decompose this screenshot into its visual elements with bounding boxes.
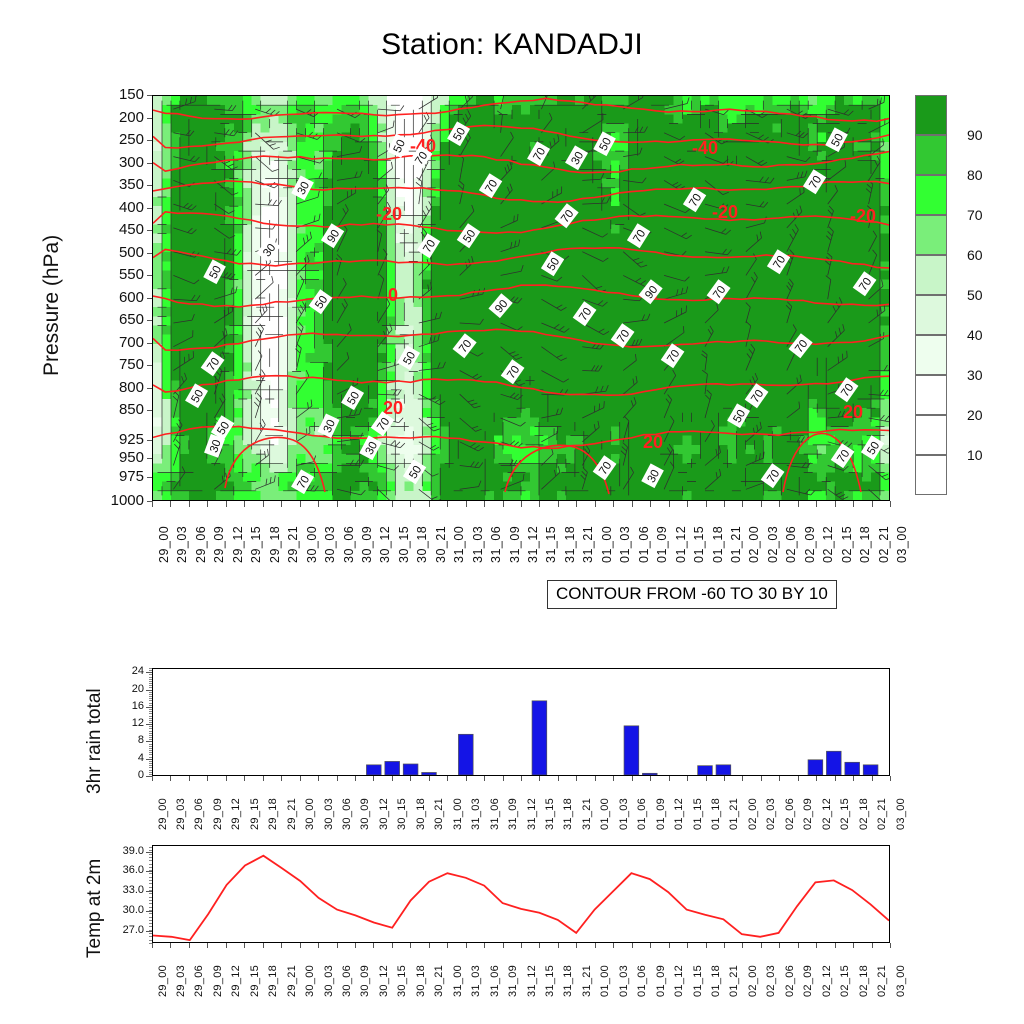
main-x-tickmark — [226, 501, 227, 507]
colorbar-swatch — [915, 135, 947, 175]
temp-y-minor-tickmark — [149, 907, 152, 908]
main-x-tickmark — [761, 501, 762, 507]
temp-y-minor-tickmark — [149, 880, 152, 881]
rain-y-minor-tickmark — [149, 722, 152, 723]
rain-x-tickmark — [189, 776, 190, 781]
temp-y-minor-tickmark — [149, 877, 152, 878]
rain-y-minor-tickmark — [149, 707, 152, 708]
temp-y-tickmark — [146, 891, 152, 892]
main-y-tickmark — [147, 410, 152, 411]
rain-x-tick: 29_12 — [230, 798, 242, 830]
main-x-tick: 29_18 — [268, 526, 282, 563]
temp-x-tickmark — [798, 943, 799, 948]
rain-x-tickmark — [170, 776, 171, 781]
rain-x-tickmark — [890, 776, 891, 781]
main-x-tick: 31_12 — [526, 526, 540, 563]
main-y-axis-title-text: Pressure (hPa) — [40, 235, 64, 376]
temp-x-tick: 31_06 — [489, 965, 501, 997]
main-x-tickmark — [466, 501, 467, 507]
temp-y-minor-tickmark — [149, 903, 152, 904]
temp-x-tick: 01_00 — [599, 965, 611, 997]
rain-y-minor-tickmark — [149, 694, 152, 695]
temp-y-minor-tickmark — [149, 857, 152, 858]
main-y-tickmark — [147, 140, 152, 141]
temp-x-tick: 29_00 — [157, 965, 169, 997]
rain-y-minor-tickmark — [149, 713, 152, 714]
rain-y-minor-tickmark — [149, 705, 152, 706]
rain-y-minor-tickmark — [149, 716, 152, 717]
temp-x-tickmark — [152, 943, 153, 948]
main-x-tickmark — [779, 501, 780, 507]
rain-y-minor-tickmark — [149, 711, 152, 712]
main-y-tickmark — [147, 275, 152, 276]
temp-x-tickmark — [872, 943, 873, 948]
temperature-line-chart — [152, 845, 890, 943]
colorbar-label: 60 — [967, 247, 983, 263]
rain-y-minor-tickmark — [149, 683, 152, 684]
rain-x-tick: 01_21 — [728, 798, 740, 830]
main-y-tickmark — [147, 458, 152, 459]
main-x-tick: 31_00 — [452, 526, 466, 563]
main-x-tick: 02_18 — [858, 526, 872, 563]
temp-y-minor-tickmark — [149, 900, 152, 901]
rain-x-tickmark — [337, 776, 338, 781]
rain-y-minor-tickmark — [149, 761, 152, 762]
temp-y-axis-title-text: Temp at 2m — [84, 859, 106, 958]
main-x-tick: 29_06 — [194, 526, 208, 563]
rain-y-minor-tickmark — [149, 718, 152, 719]
rain-x-tickmark — [798, 776, 799, 781]
temp-x-tick: 29_03 — [175, 965, 187, 997]
rain-x-tick: 30_00 — [304, 798, 316, 830]
main-x-tickmark — [872, 501, 873, 507]
rain-y-minor-tickmark — [149, 687, 152, 688]
rain-x-tickmark — [410, 776, 411, 781]
rain-y-minor-tickmark — [149, 767, 152, 768]
rain-y-minor-tickmark — [149, 759, 152, 760]
main-x-tick: 31_15 — [544, 526, 558, 563]
main-y-tickmark — [147, 298, 152, 299]
rain-x-tickmark — [742, 776, 743, 781]
rain-y-minor-tickmark — [149, 724, 152, 725]
temp-x-tickmark — [281, 943, 282, 948]
rain-y-minor-tickmark — [149, 681, 152, 682]
main-x-tick: 02_09 — [803, 526, 817, 563]
rain-x-tick: 30_21 — [433, 798, 445, 830]
temp-x-tickmark — [576, 943, 577, 948]
rain-y-minor-tickmark — [149, 728, 152, 729]
temp-x-tickmark — [244, 943, 245, 948]
rain-x-tick: 02_03 — [765, 798, 777, 830]
main-x-tickmark — [410, 501, 411, 507]
colorbar-swatch — [915, 375, 947, 415]
temp-x-tick: 30_00 — [304, 965, 316, 997]
temp-y-minor-tickmark — [149, 897, 152, 898]
rain-y-minor-tickmark — [149, 703, 152, 704]
main-x-tickmark — [706, 501, 707, 507]
temp-x-tick: 02_00 — [747, 965, 759, 997]
temp-x-tickmark — [539, 943, 540, 948]
main-x-tick: 29_03 — [175, 526, 189, 563]
temp-y-minor-tickmark — [149, 936, 152, 937]
temp-x-tickmark — [207, 943, 208, 948]
rain-x-tick: 31_15 — [544, 798, 556, 830]
rain-y-minor-tickmark — [149, 674, 152, 675]
main-y-tick: 850 — [86, 402, 144, 417]
rain-y-minor-tickmark — [149, 679, 152, 680]
temp-y-minor-tickmark — [149, 850, 152, 851]
temp-x-tickmark — [890, 943, 891, 948]
colorbar-swatch — [915, 95, 947, 135]
rain-x-tickmark — [816, 776, 817, 781]
rain-y-minor-tickmark — [149, 696, 152, 697]
main-x-tick: 01_06 — [637, 526, 651, 563]
rain-y-tick: 12 — [112, 718, 144, 729]
rain-y-minor-tickmark — [149, 677, 152, 678]
main-x-tickmark — [835, 501, 836, 507]
main-x-tickmark — [263, 501, 264, 507]
rain-x-tickmark — [484, 776, 485, 781]
colorbar-label: 70 — [967, 207, 983, 223]
main-y-tick: 300 — [86, 155, 144, 170]
main-x-tickmark — [816, 501, 817, 507]
temp-x-tick: 30_12 — [378, 965, 390, 997]
colorbar-label: 90 — [967, 127, 983, 143]
rain-x-tickmark — [669, 776, 670, 781]
main-x-tickmark — [650, 501, 651, 507]
rain-y-minor-tickmark — [149, 752, 152, 753]
temp-x-tick: 02_03 — [765, 965, 777, 997]
rain-y-tick: 24 — [112, 666, 144, 677]
temp-x-tick: 29_09 — [212, 965, 224, 997]
temp-x-tick: 29_06 — [193, 965, 205, 997]
temp-x-tickmark — [484, 943, 485, 948]
rain-x-tick: 31_06 — [489, 798, 501, 830]
main-x-tick: 02_00 — [747, 526, 761, 563]
rain-x-tickmark — [392, 776, 393, 781]
main-y-tick: 400 — [86, 200, 144, 215]
contour-caption: CONTOUR FROM -60 TO 30 BY 10 — [547, 580, 837, 609]
temp-y-minor-tickmark — [149, 930, 152, 931]
rain-x-tick: 02_09 — [802, 798, 814, 830]
temp-x-tickmark — [816, 943, 817, 948]
temp-x-tick: 02_09 — [802, 965, 814, 997]
colorbar-label: 20 — [967, 407, 983, 423]
temp-x-tick: 30_03 — [323, 965, 335, 997]
main-x-tickmark — [576, 501, 577, 507]
temp-x-tickmark — [650, 943, 651, 948]
main-x-tick: 01_03 — [618, 526, 632, 563]
temp-x-tick: 31_09 — [507, 965, 519, 997]
main-x-tick: 29_15 — [249, 526, 263, 563]
temp-x-tick: 30_21 — [433, 965, 445, 997]
rain-x-tickmark — [595, 776, 596, 781]
colorbar: 908070605040302010 — [915, 95, 947, 495]
rain-y-axis-title-text: 3hr rain total — [84, 688, 106, 794]
rain-y-minor-tickmark — [149, 726, 152, 727]
rain-x-tick: 29_18 — [267, 798, 279, 830]
rain-y-minor-tickmark — [149, 774, 152, 775]
temp-x-tickmark — [392, 943, 393, 948]
temp-y-minor-tickmark — [149, 867, 152, 868]
temp-canvas — [153, 846, 889, 942]
rain-x-tick: 01_18 — [710, 798, 722, 830]
temp-x-tickmark — [521, 943, 522, 948]
temp-x-tickmark — [595, 943, 596, 948]
temp-x-tickmark — [706, 943, 707, 948]
temp-y-minor-tickmark — [149, 933, 152, 934]
main-y-tickmark — [147, 365, 152, 366]
rain-x-tickmark — [706, 776, 707, 781]
rain-x-tick: 02_00 — [747, 798, 759, 830]
main-y-tickmark — [147, 320, 152, 321]
main-y-tick: 250 — [86, 132, 144, 147]
rain-y-minor-tickmark — [149, 692, 152, 693]
rain-x-tickmark — [779, 776, 780, 781]
temp-x-tick: 01_21 — [728, 965, 740, 997]
rain-x-tickmark — [300, 776, 301, 781]
main-x-tickmark — [189, 501, 190, 507]
rain-x-tickmark — [207, 776, 208, 781]
main-x-tick: 30_18 — [415, 526, 429, 563]
rain-y-tick: 20 — [112, 684, 144, 695]
rain-x-tickmark — [853, 776, 854, 781]
main-y-tickmark — [147, 95, 152, 96]
rain-x-tick: 31_21 — [581, 798, 593, 830]
rain-y-minor-tickmark — [149, 690, 152, 691]
page-title: Station: KANDADJI — [0, 28, 1024, 62]
main-x-tickmark — [318, 501, 319, 507]
colorbar-label: 80 — [967, 167, 983, 183]
rain-y-minor-tickmark — [149, 737, 152, 738]
main-x-tickmark — [152, 501, 153, 507]
rain-x-tick: 01_09 — [655, 798, 667, 830]
main-y-tick: 800 — [86, 380, 144, 395]
main-y-tick: 750 — [86, 357, 144, 372]
colorbar-label: 30 — [967, 367, 983, 383]
colorbar-swatch — [915, 455, 947, 495]
temp-y-minor-tickmark — [149, 940, 152, 941]
temp-x-tickmark — [263, 943, 264, 948]
rain-y-tick: 8 — [112, 735, 144, 746]
main-x-tickmark — [798, 501, 799, 507]
temp-x-tick: 01_06 — [636, 965, 648, 997]
temp-x-tickmark — [318, 943, 319, 948]
temp-x-tick: 02_12 — [821, 965, 833, 997]
main-y-tickmark — [147, 208, 152, 209]
temp-x-tickmark — [300, 943, 301, 948]
rain-x-tick: 02_12 — [821, 798, 833, 830]
temp-x-tick: 31_21 — [581, 965, 593, 997]
cross-section-canvas: -40-40-20-20-200020202050705030305030509… — [153, 96, 889, 500]
rain-x-tickmark — [872, 776, 873, 781]
temp-x-tickmark — [724, 943, 725, 948]
main-y-tick: 925 — [86, 432, 144, 447]
rain-x-tickmark — [576, 776, 577, 781]
main-x-tick: 30_21 — [434, 526, 448, 563]
main-x-tick: 30_00 — [305, 526, 319, 563]
main-x-tick: 02_06 — [784, 526, 798, 563]
temp-y-minor-tickmark — [149, 893, 152, 894]
rain-y-minor-tickmark — [149, 668, 152, 669]
temp-y-minor-tickmark — [149, 923, 152, 924]
temp-y-minor-tickmark — [149, 870, 152, 871]
main-x-tickmark — [300, 501, 301, 507]
temp-x-tick: 03_00 — [895, 965, 907, 997]
rain-x-tick: 31_18 — [562, 798, 574, 830]
main-x-tick: 01_21 — [729, 526, 743, 563]
main-y-tick: 950 — [86, 450, 144, 465]
rain-x-tickmark — [152, 776, 153, 781]
colorbar-swatch — [915, 175, 947, 215]
temp-x-tickmark — [373, 943, 374, 948]
main-y-tick: 650 — [86, 312, 144, 327]
temp-y-minor-tickmark — [149, 873, 152, 874]
main-x-tick: 31_03 — [471, 526, 485, 563]
temp-y-tickmark — [146, 852, 152, 853]
temp-x-tick: 01_18 — [710, 965, 722, 997]
main-x-tickmark — [429, 501, 430, 507]
main-x-tick: 31_21 — [581, 526, 595, 563]
main-x-tick: 29_21 — [286, 526, 300, 563]
rain-x-tick: 29_06 — [193, 798, 205, 830]
temp-y-minor-tickmark — [149, 910, 152, 911]
rain-x-tick: 30_09 — [359, 798, 371, 830]
rain-x-tick: 01_00 — [599, 798, 611, 830]
main-x-tickmark — [244, 501, 245, 507]
temp-x-tickmark — [558, 943, 559, 948]
main-x-tickmark — [558, 501, 559, 507]
temp-y-tick: 39.0 — [96, 846, 144, 857]
temp-y-tickmark — [146, 871, 152, 872]
rain-x-tickmark — [466, 776, 467, 781]
main-x-tick: 30_03 — [323, 526, 337, 563]
rain-y-minor-tickmark — [149, 770, 152, 771]
rain-x-tick: 02_15 — [839, 798, 851, 830]
main-y-tickmark — [147, 343, 152, 344]
colorbar-swatch — [915, 415, 947, 455]
temp-x-tickmark — [503, 943, 504, 948]
main-x-tick: 30_06 — [342, 526, 356, 563]
colorbar-swatch — [915, 255, 947, 295]
temp-x-tick: 01_12 — [673, 965, 685, 997]
rain-x-tick: 29_21 — [286, 798, 298, 830]
temp-x-tickmark — [226, 943, 227, 948]
main-x-tick: 01_00 — [600, 526, 614, 563]
main-cross-section-plot: -40-40-20-20-200020202050705030305030509… — [152, 95, 890, 501]
main-y-tickmark — [147, 253, 152, 254]
main-x-tickmark — [447, 501, 448, 507]
temp-x-tickmark — [853, 943, 854, 948]
rain-y-tick: 16 — [112, 701, 144, 712]
temp-y-minor-tickmark — [149, 920, 152, 921]
rain-y-minor-tickmark — [149, 698, 152, 699]
svg-text:0: 0 — [388, 285, 398, 305]
rain-x-tickmark — [761, 776, 762, 781]
rain-y-minor-tickmark — [149, 772, 152, 773]
rain-x-tickmark — [447, 776, 448, 781]
temp-x-tick: 01_15 — [692, 965, 704, 997]
temp-x-tick: 01_09 — [655, 965, 667, 997]
rain-y-minor-tickmark — [149, 685, 152, 686]
main-x-tickmark — [355, 501, 356, 507]
rain-x-tick: 02_21 — [876, 798, 888, 830]
main-x-tick: 30_09 — [360, 526, 374, 563]
rain-x-tickmark — [724, 776, 725, 781]
svg-text:-20: -20 — [712, 202, 738, 222]
svg-text:-40: -40 — [692, 138, 718, 158]
main-x-tickmark — [170, 501, 171, 507]
temp-y-tickmark — [146, 911, 152, 912]
rain-x-tickmark — [281, 776, 282, 781]
main-y-tick: 550 — [86, 267, 144, 282]
rain-y-minor-tickmark — [149, 741, 152, 742]
temp-x-tickmark — [466, 943, 467, 948]
rain-y-minor-tickmark — [149, 765, 152, 766]
main-y-tickmark — [147, 163, 152, 164]
main-y-tick: 600 — [86, 290, 144, 305]
temp-y-minor-tickmark — [149, 890, 152, 891]
rain-y-minor-tickmark — [149, 754, 152, 755]
colorbar-swatch — [915, 335, 947, 375]
main-x-tickmark — [632, 501, 633, 507]
rain-x-tick: 01_15 — [692, 798, 704, 830]
rain-x-tickmark — [558, 776, 559, 781]
main-y-tickmark — [147, 230, 152, 231]
temp-x-tickmark — [779, 943, 780, 948]
main-y-tick: 350 — [86, 177, 144, 192]
temp-y-minor-tickmark — [149, 860, 152, 861]
rain-x-tickmark — [521, 776, 522, 781]
main-x-tick: 02_15 — [840, 526, 854, 563]
colorbar-label: 50 — [967, 287, 983, 303]
rain-y-tick: 0 — [112, 770, 144, 781]
temp-x-tickmark — [835, 943, 836, 948]
temp-x-tick: 29_12 — [230, 965, 242, 997]
temp-x-tickmark — [761, 943, 762, 948]
main-x-tickmark — [503, 501, 504, 507]
main-y-tickmark — [147, 185, 152, 186]
temp-x-tickmark — [429, 943, 430, 948]
temp-x-tick: 30_18 — [415, 965, 427, 997]
temp-x-tickmark — [742, 943, 743, 948]
rain-x-tick: 31_09 — [507, 798, 519, 830]
main-x-tickmark — [484, 501, 485, 507]
main-x-tickmark — [687, 501, 688, 507]
main-x-tickmark — [521, 501, 522, 507]
svg-text:20: 20 — [843, 402, 863, 422]
main-x-tick: 03_00 — [895, 526, 909, 563]
temp-x-tick: 31_00 — [452, 965, 464, 997]
temp-x-tickmark — [447, 943, 448, 948]
rain-x-tick: 31_00 — [452, 798, 464, 830]
rain-x-tickmark — [355, 776, 356, 781]
temp-x-tickmark — [410, 943, 411, 948]
rain-canvas — [153, 669, 889, 775]
rain-x-tick: 02_06 — [784, 798, 796, 830]
rain-x-tickmark — [244, 776, 245, 781]
temp-x-tickmark — [669, 943, 670, 948]
svg-text:-20: -20 — [850, 206, 876, 226]
main-y-tickmark — [147, 388, 152, 389]
main-x-tick: 01_18 — [711, 526, 725, 563]
temp-x-tick: 02_21 — [876, 965, 888, 997]
main-y-tick: 975 — [86, 469, 144, 484]
temp-y-minor-tickmark — [149, 926, 152, 927]
main-x-tick: 02_03 — [766, 526, 780, 563]
rain-x-tick: 29_09 — [212, 798, 224, 830]
main-y-tick: 150 — [86, 87, 144, 102]
